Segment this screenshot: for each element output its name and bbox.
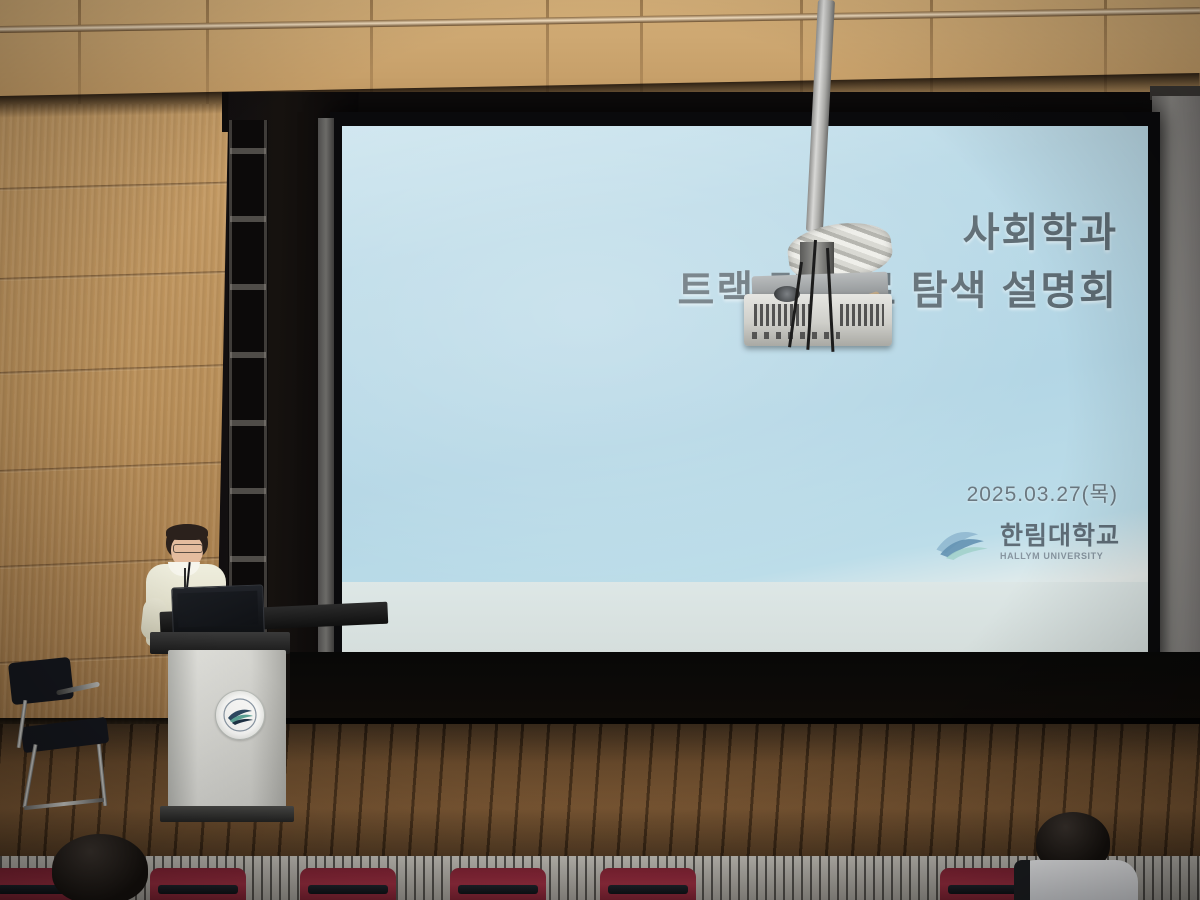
projection-screen-frame: 사회학과 트랙 및 진로 탐색 설명회 2025.03.27(목) 한림대학교 … bbox=[330, 112, 1160, 672]
projector-body bbox=[744, 294, 892, 346]
seal-wave-icon bbox=[222, 697, 258, 733]
slide-university-logo: 한림대학교 HALLYM UNIVERSITY bbox=[934, 524, 1120, 561]
chair-backrest bbox=[8, 657, 74, 705]
podium bbox=[150, 628, 290, 828]
presenter-fringe bbox=[166, 524, 208, 540]
audience-member-left bbox=[52, 834, 148, 900]
audience-seat bbox=[150, 868, 246, 900]
audience-seat bbox=[300, 868, 396, 900]
laptop-screen bbox=[177, 591, 258, 628]
projection-screen-surface: 사회학과 트랙 및 진로 탐색 설명회 2025.03.27(목) 한림대학교 … bbox=[342, 126, 1148, 654]
logo-english-name: HALLYM UNIVERSITY bbox=[1000, 552, 1120, 561]
screen-lower-band bbox=[342, 582, 1148, 654]
jacket-stripe bbox=[1014, 860, 1030, 900]
stacking-chair bbox=[4, 660, 124, 820]
logo-korean-name: 한림대학교 bbox=[1000, 524, 1120, 549]
audience-member-right-jacket bbox=[1014, 860, 1138, 900]
backstage-ladder-truss bbox=[228, 120, 268, 640]
screen-left-edge-strip bbox=[318, 118, 334, 674]
audience-seat bbox=[450, 868, 546, 900]
audience-seat bbox=[600, 868, 696, 900]
slide-date: 2025.03.27(목) bbox=[967, 478, 1118, 508]
ceiling-projector bbox=[738, 222, 898, 352]
wave-mark-icon bbox=[934, 525, 992, 561]
logo-text-block: 한림대학교 HALLYM UNIVERSITY bbox=[1000, 524, 1120, 561]
auditorium-photo: 사회학과 트랙 및 진로 탐색 설명회 2025.03.27(목) 한림대학교 … bbox=[0, 0, 1200, 900]
hallym-university-seal bbox=[215, 690, 265, 740]
glasses-icon bbox=[173, 544, 203, 553]
podium-base bbox=[160, 806, 294, 822]
podium-front-panel bbox=[168, 650, 286, 808]
